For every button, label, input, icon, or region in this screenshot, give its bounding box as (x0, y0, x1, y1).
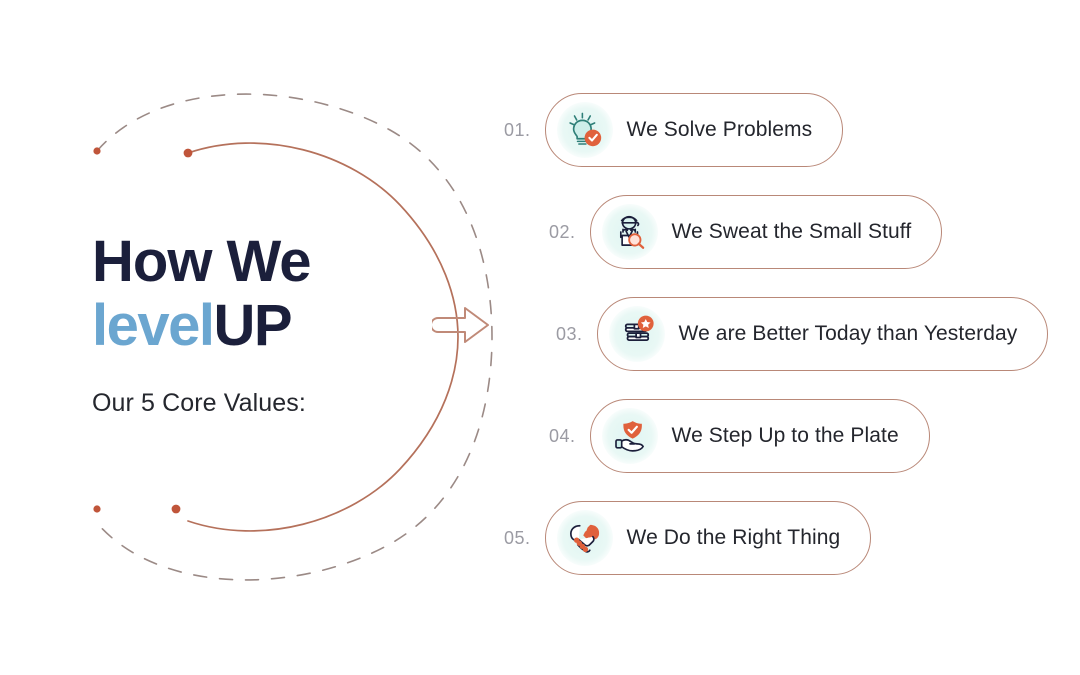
detective-magnifier-icon (602, 204, 658, 260)
value-label: We Solve Problems (627, 118, 813, 142)
value-pill-step-up-plate[interactable]: We Step Up to the Plate (590, 399, 930, 473)
value-pill-right-thing[interactable]: We Do the Right Thing (545, 501, 872, 575)
handshake-icon (557, 510, 613, 566)
value-label: We are Better Today than Yesterday (679, 322, 1018, 346)
value-row[interactable]: 02. (549, 191, 942, 273)
value-index: 04. (549, 426, 576, 447)
lightbulb-check-icon (557, 102, 613, 158)
hand-shield-check-icon (602, 408, 658, 464)
value-label: We Sweat the Small Stuff (672, 220, 912, 244)
value-label: We Step Up to the Plate (672, 424, 899, 448)
value-row[interactable]: 03. (556, 293, 1048, 375)
value-pill-sweat-small-stuff[interactable]: We Sweat the Small Stuff (590, 195, 943, 269)
infographic-canvas: How We levelUP Our 5 Core Values: 01. (0, 0, 1080, 675)
value-row[interactable]: 05. (504, 497, 871, 579)
value-index: 01. (504, 120, 531, 141)
books-star-icon (609, 306, 665, 362)
value-index: 02. (549, 222, 576, 243)
value-pill-better-today[interactable]: We are Better Today than Yesterday (597, 297, 1049, 371)
value-index: 05. (504, 528, 531, 549)
value-row[interactable]: 01. (504, 89, 843, 171)
value-index: 03. (556, 324, 583, 345)
value-pill-solve-problems[interactable]: We Solve Problems (545, 93, 844, 167)
value-label: We Do the Right Thing (627, 526, 841, 550)
core-values-list: 01. (0, 0, 1080, 675)
value-row[interactable]: 04. We Step Up to the Plate (549, 395, 930, 477)
